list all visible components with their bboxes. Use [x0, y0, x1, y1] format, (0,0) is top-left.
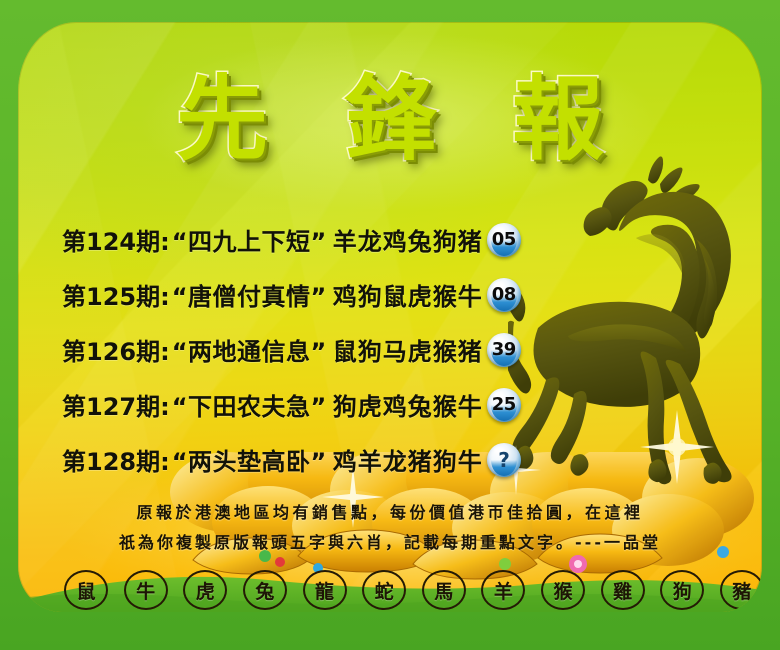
zodiac-sequence: 鸡羊龙猪狗牛	[333, 448, 483, 476]
ball-number: 25	[492, 396, 516, 414]
zodiac-sequence: 鸡狗鼠虎猴牛	[333, 283, 483, 311]
forecast-row: 第127期:“下田农夫急”狗虎鸡兔猴牛 25	[62, 377, 592, 432]
zodiac-sequence: 鼠狗马虎猴猪	[333, 338, 483, 366]
zodiac-badge-snake: 蛇	[362, 570, 406, 610]
forecast-row: 第124期:“四九上下短”羊龙鸡兔狗猪 05	[62, 212, 592, 267]
phrase-text: “下田农夫急”	[172, 393, 327, 421]
issue-label: 第125期:	[62, 283, 170, 311]
issue-label: 第124期:	[62, 228, 170, 256]
forecast-line: 第128期:“两头垫高卧”鸡羊龙猪狗牛	[62, 442, 483, 477]
phrase-text: “四九上下短”	[172, 228, 327, 256]
zodiac-badge-dog: 狗	[660, 570, 704, 610]
forecast-line: 第125期:“唐僧付真情”鸡狗鼠虎猴牛	[62, 277, 483, 312]
zodiac-badge-ox: 牛	[124, 570, 168, 610]
zodiac-badge-rat: 鼠	[64, 570, 108, 610]
zodiac-badge-horse: 馬	[422, 570, 466, 610]
zodiac-badge-dragon: 龍	[303, 570, 347, 610]
ball-number: 08	[492, 286, 516, 304]
sparkle-icon	[632, 402, 722, 492]
lottery-ball: 08	[487, 278, 521, 312]
zodiac-badge-row: 鼠 牛 虎 兔 龍 蛇 馬 羊 猴 雞 狗 豬	[64, 570, 762, 610]
ball-number: ?	[498, 450, 509, 470]
forecast-line: 第124期:“四九上下短”羊龙鸡兔狗猪	[62, 222, 483, 257]
forecast-line: 第126期:“两地通信息”鼠狗马虎猴猪	[62, 332, 483, 367]
zodiac-sequence: 羊龙鸡兔狗猪	[333, 228, 483, 256]
main-panel: 先 鋒 報 第124期:“四九上下短”羊龙鸡兔狗猪 05 第125期:“唐僧付真…	[18, 22, 762, 612]
zodiac-badge-pig: 豬	[720, 570, 762, 610]
ball-number: 05	[492, 231, 516, 249]
phrase-text: “两头垫高卧”	[172, 448, 327, 476]
lottery-ball: 39	[487, 333, 521, 367]
issue-label: 第127期:	[62, 393, 170, 421]
zodiac-badge-monkey: 猴	[541, 570, 585, 610]
footer-notes: 原報於港澳地區均有銷售點，每份價值港帀佳拾圓，在這裡 祇為你複製原版報頭五字與六…	[18, 498, 762, 558]
lottery-ball-unknown: ?	[487, 443, 521, 477]
page-title: 先 鋒 報	[154, 74, 626, 166]
lottery-ball: 25	[487, 388, 521, 422]
masthead: 先 鋒 報	[18, 74, 762, 166]
newspaper-poster: 先 鋒 報 第124期:“四九上下短”羊龙鸡兔狗猪 05 第125期:“唐僧付真…	[0, 0, 780, 650]
zodiac-badge-tiger: 虎	[183, 570, 227, 610]
forecast-row: 第125期:“唐僧付真情”鸡狗鼠虎猴牛 08	[62, 267, 592, 322]
issue-label: 第126期:	[62, 338, 170, 366]
forecast-line: 第127期:“下田农夫急”狗虎鸡兔猴牛	[62, 387, 483, 422]
zodiac-badge-rooster: 雞	[601, 570, 645, 610]
forecast-row: 第126期:“两地通信息”鼠狗马虎猴猪 39	[62, 322, 592, 377]
zodiac-sequence: 狗虎鸡兔猴牛	[333, 393, 483, 421]
issue-label: 第128期:	[62, 448, 170, 476]
forecast-row: 第128期:“两头垫高卧”鸡羊龙猪狗牛 ?	[62, 432, 592, 487]
zodiac-badge-goat: 羊	[481, 570, 525, 610]
ball-number: 39	[492, 341, 516, 359]
phrase-text: “唐僧付真情”	[172, 283, 327, 311]
zodiac-badge-rabbit: 兔	[243, 570, 287, 610]
note-line-1: 原報於港澳地區均有銷售點，每份價值港帀佳拾圓，在這裡	[18, 498, 762, 528]
lottery-ball: 05	[487, 223, 521, 257]
note-line-2: 祇為你複製原版報頭五字與六肖，記載每期重點文字。---一品堂	[18, 528, 762, 558]
forecast-list: 第124期:“四九上下短”羊龙鸡兔狗猪 05 第125期:“唐僧付真情”鸡狗鼠虎…	[62, 212, 592, 487]
phrase-text: “两地通信息”	[172, 338, 327, 366]
